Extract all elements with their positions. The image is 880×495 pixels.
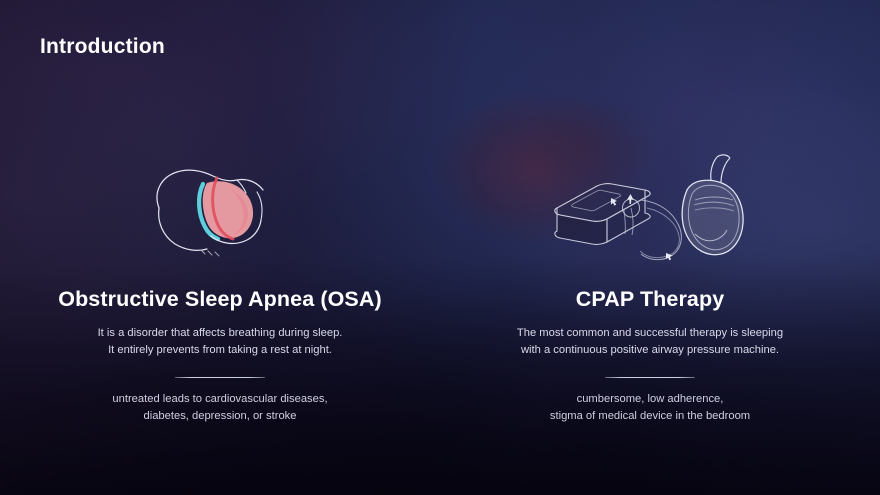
osa-body: It is a disorder that affects breathing … bbox=[10, 325, 430, 359]
cpap-machine-and-mask-illustration bbox=[440, 150, 860, 280]
airway-anatomy-illustration bbox=[10, 150, 430, 280]
slide-title: Introduction bbox=[40, 36, 165, 57]
osa-body-line-2: It entirely prevents from taking a rest … bbox=[10, 342, 430, 359]
cpap-body-line-1: The most common and successful therapy i… bbox=[440, 325, 860, 342]
osa-note: untreated leads to cardiovascular diseas… bbox=[10, 391, 430, 425]
osa-heading: Obstructive Sleep Apnea (OSA) bbox=[10, 288, 430, 312]
cpap-note-line-1: cumbersome, low adherence, bbox=[440, 391, 860, 408]
osa-body-line-1: It is a disorder that affects breathing … bbox=[10, 325, 430, 342]
osa-note-line-2: diabetes, depression, or stroke bbox=[10, 408, 430, 425]
column-cpap: CPAP Therapy The most common and success… bbox=[440, 150, 860, 425]
cpap-body-line-2: with a continuous positive airway pressu… bbox=[440, 342, 860, 359]
presentation-slide: Introduction bbox=[0, 0, 880, 495]
osa-divider bbox=[175, 377, 265, 379]
cpap-note: cumbersome, low adherence, stigma of med… bbox=[440, 391, 860, 425]
cpap-heading: CPAP Therapy bbox=[440, 288, 860, 312]
column-osa: Obstructive Sleep Apnea (OSA) It is a di… bbox=[10, 150, 430, 425]
osa-note-line-1: untreated leads to cardiovascular diseas… bbox=[10, 391, 430, 408]
cpap-body: The most common and successful therapy i… bbox=[440, 325, 860, 359]
cpap-note-line-2: stigma of medical device in the bedroom bbox=[440, 408, 860, 425]
cpap-divider bbox=[605, 377, 695, 379]
